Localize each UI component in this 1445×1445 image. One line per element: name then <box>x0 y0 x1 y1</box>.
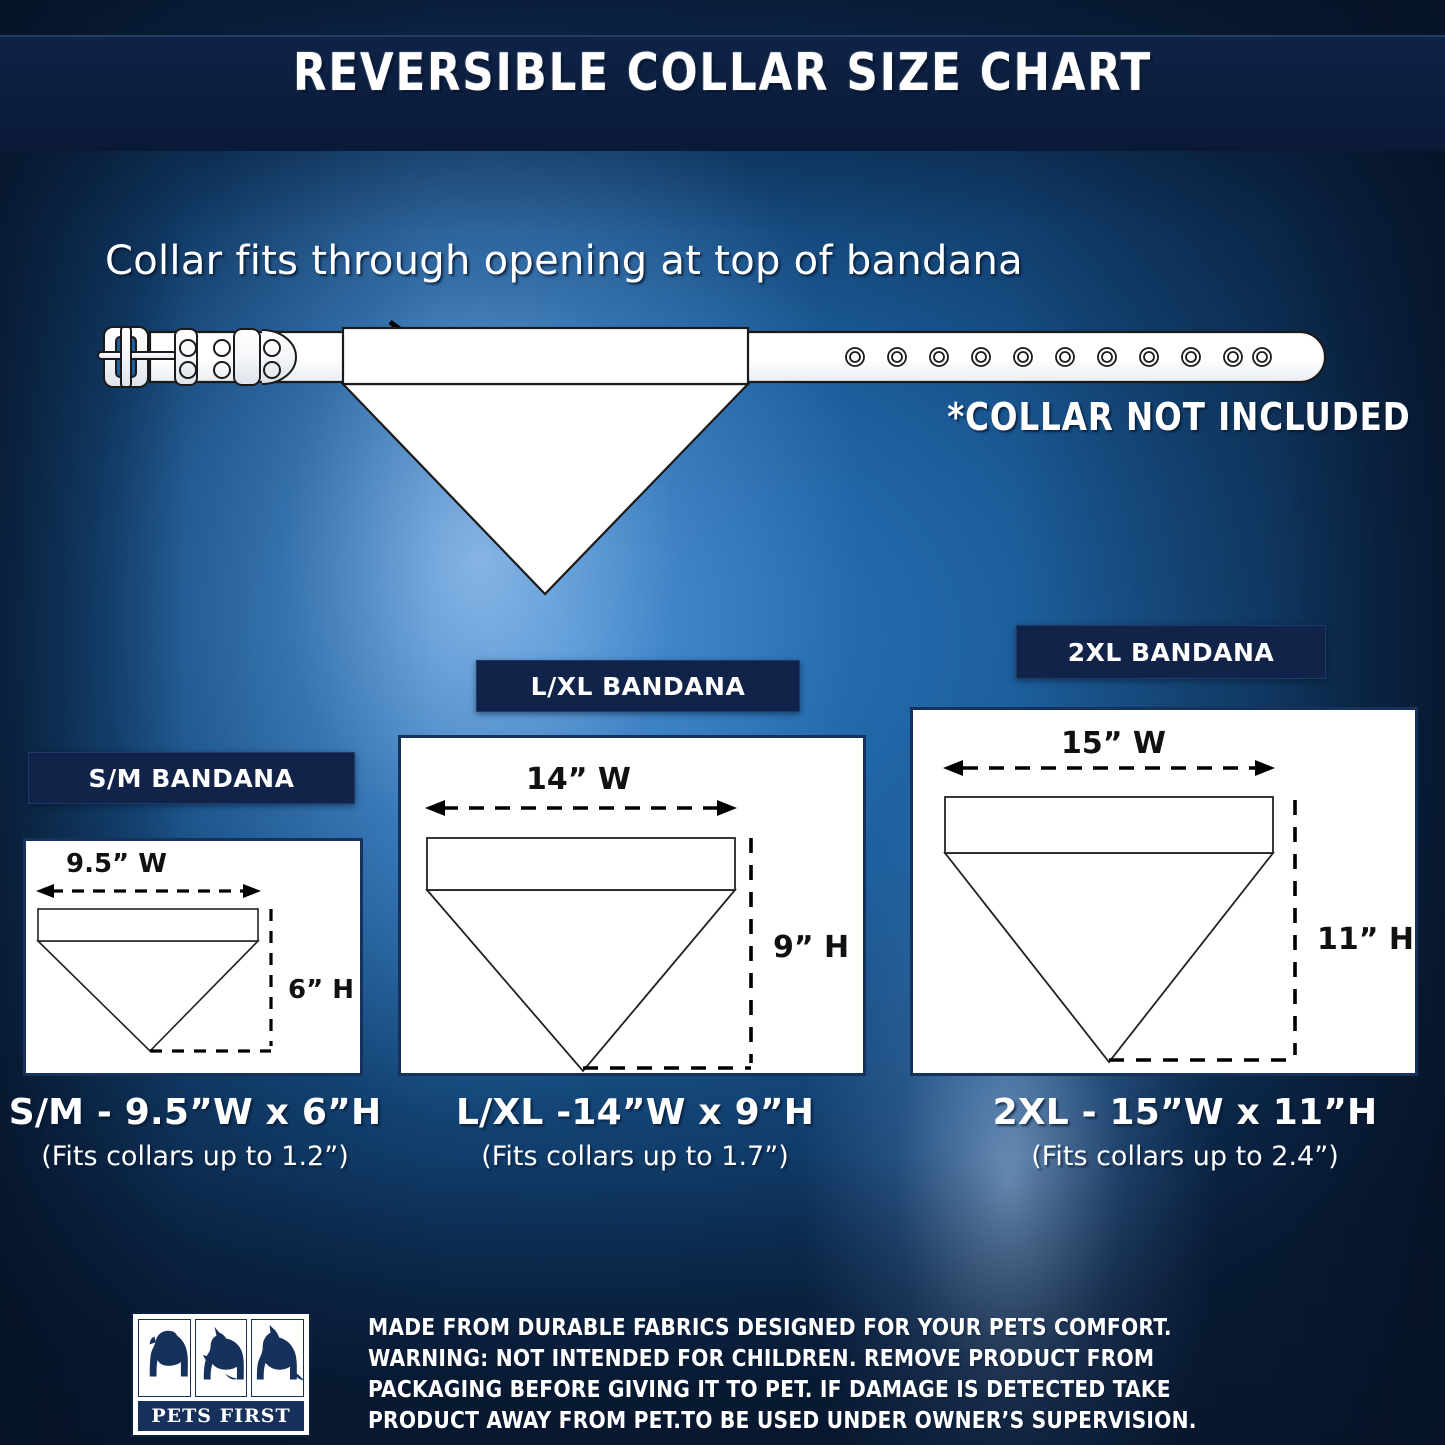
size-tab-lxl: L/XL BANDANA <box>476 660 800 712</box>
width-label-lxl: 14” W <box>526 762 631 797</box>
size-chart-infographic: REVERSIBLE COLLAR SIZE CHART Collar fits… <box>0 0 1445 1445</box>
size-caption-sm: S/M - 9.5”W x 6”H (Fits collars up to 1.… <box>0 1092 390 1172</box>
height-label-2xl: 11” H <box>1317 922 1414 957</box>
logo-dog-sitting-icon <box>138 1319 191 1397</box>
buckle-keeper-2 <box>234 329 260 385</box>
logo-wordmark: PETS FIRST <box>138 1401 304 1431</box>
size-tab-2xl: 2XL BANDANA <box>1016 625 1326 679</box>
disclaimer-line-2: WARNING: NOT INTENDED FOR CHILDREN. REMO… <box>368 1344 1324 1375</box>
logo-dog-standing-icon <box>251 1319 304 1397</box>
collar-not-included-note: *COLLAR NOT INCLUDED <box>947 395 1410 439</box>
collar-callout-text: Collar fits through opening at top of ba… <box>105 238 1023 284</box>
bandana-on-collar <box>343 328 748 594</box>
collar-illustration <box>0 300 1445 610</box>
size-tab-sm: S/M BANDANA <box>28 752 355 804</box>
width-label-sm: 9.5” W <box>66 849 167 879</box>
logo-dog-pawing-icon <box>195 1319 248 1397</box>
size-panel-sm: 9.5” W 6” H <box>23 838 363 1076</box>
height-label-sm: 6” H <box>288 975 354 1005</box>
disclaimer-line-4: PRODUCT AWAY FROM PET.TO BE USED UNDER O… <box>368 1406 1324 1437</box>
disclaimer-line-1: MADE FROM DURABLE FABRICS DESIGNED FOR Y… <box>368 1313 1324 1344</box>
page-title: REVERSIBLE COLLAR SIZE CHART <box>51 43 1395 103</box>
size-caption-2xl: 2XL - 15”W x 11”H (Fits collars up to 2.… <box>975 1092 1395 1172</box>
bandana-diagram-2xl <box>913 710 1415 1073</box>
width-label-2xl: 15” W <box>1061 726 1166 761</box>
size-panel-2xl: 15” W 11” H <box>910 707 1418 1076</box>
height-label-lxl: 9” H <box>773 930 849 965</box>
brand-logo: PETS FIRST <box>131 1312 311 1437</box>
disclaimer-line-3: PACKAGING BEFORE GIVING IT TO PET. IF DA… <box>368 1375 1324 1406</box>
size-panel-lxl: 14” W 9” H <box>398 735 866 1076</box>
footer-disclaimer: MADE FROM DURABLE FABRICS DESIGNED FOR Y… <box>368 1313 1324 1437</box>
size-caption-lxl: L/XL -14”W x 9”H (Fits collars up to 1.7… <box>440 1092 830 1172</box>
bandana-diagram-lxl <box>401 738 863 1073</box>
